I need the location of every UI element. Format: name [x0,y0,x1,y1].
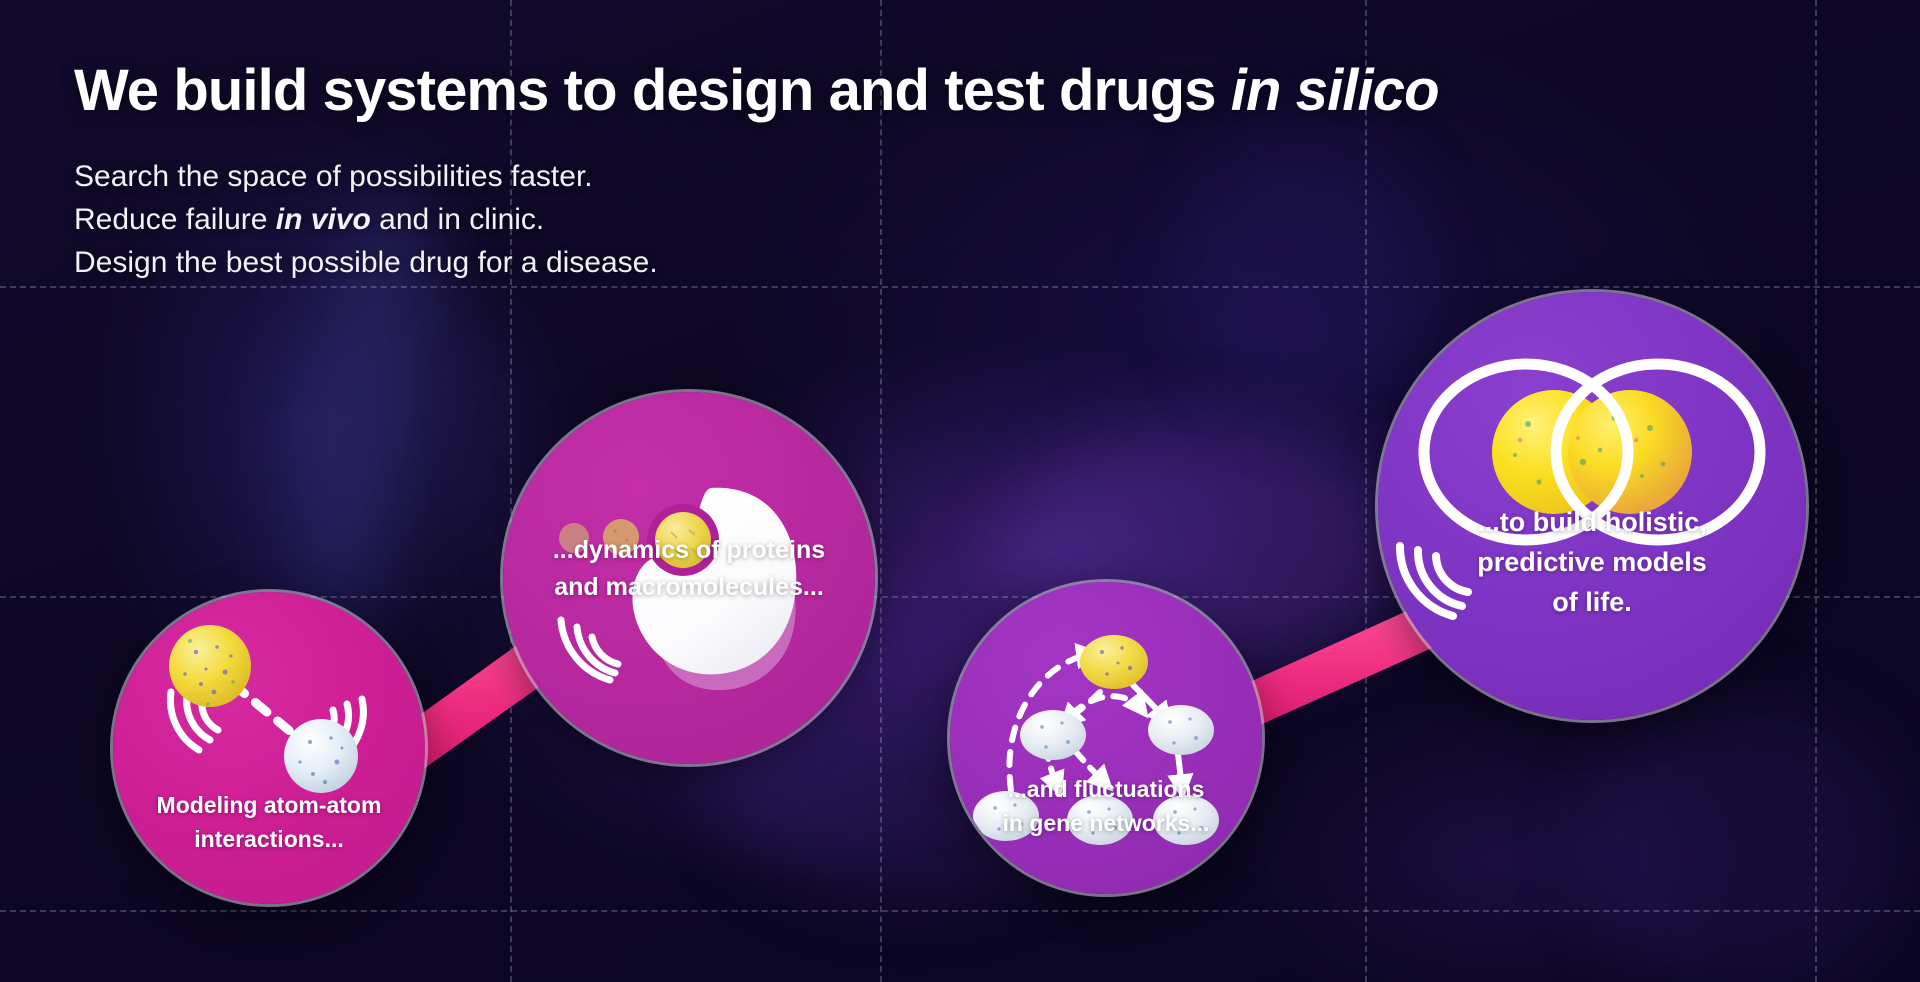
gene-node-grey-2 [1148,705,1214,755]
node-cells-caption-line-1: ...to build holistic, [1420,502,1764,542]
node-genes[interactable]: ...and fluctuations in gene networks... [950,582,1262,894]
slide-canvas: We build systems to design and test drug… [0,0,1920,982]
two-atoms-dashed-bond-icon [113,592,425,904]
grid-line-horizontal [0,286,1920,288]
atom-white [284,719,358,793]
node-protein[interactable]: ...dynamics of proteins and macromolecul… [503,392,875,764]
node-atoms-caption-line-2: interactions... [143,822,395,856]
subtitle-line-2a: Reduce failure [74,203,276,236]
subtitle-line-2: Reduce failure in vivo and in clinic. [74,198,658,241]
atom-yellow [169,625,251,707]
subtitle-line-3: Design the best possible drug for a dise… [74,241,658,284]
nuclei [1492,390,1692,514]
gene-node-grey-1 [1020,710,1086,760]
node-cells-caption: ...to build holistic, predictive models … [1378,502,1806,622]
node-atoms-caption: Modeling atom-atom interactions... [113,788,425,856]
node-genes-caption-line-2: in gene networks... [976,806,1236,840]
nebula-streak [1580,700,1910,982]
grid-line-vertical [880,0,882,982]
node-cells-caption-line-2: predictive models [1420,542,1764,582]
subtitle-line-1: Search the space of possibilities faster… [74,155,658,198]
page-title-main: We build systems to design and test drug… [74,58,1231,123]
node-cells[interactable]: ...to build holistic, predictive models … [1378,292,1806,720]
gene-node-yellow [1080,635,1148,689]
subtitle-line-2-emphasis: in vivo [276,203,371,236]
node-protein-caption-line-2: and macromolecules... [537,569,841,606]
vibration-arcs [561,620,618,680]
gene-network-icon [950,582,1262,894]
node-genes-caption-line-1: ...and fluctuations [976,772,1236,806]
node-cells-caption-line-3: of life. [1420,582,1764,622]
page-title-italic: in silico [1231,58,1439,123]
bond-dashes [233,684,297,737]
subtitle-block: Search the space of possibilities faster… [74,155,658,284]
page-title: We build systems to design and test drug… [74,57,1439,124]
subtitle-line-2b: and in clinic. [371,203,544,236]
node-genes-caption: ...and fluctuations in gene networks... [950,772,1262,840]
node-atoms[interactable]: Modeling atom-atom interactions... [113,592,425,904]
grid-line-horizontal [0,910,1920,912]
node-protein-caption: ...dynamics of proteins and macromolecul… [503,532,875,606]
node-protein-caption-line-1: ...dynamics of proteins [537,532,841,569]
grid-line-vertical [1815,0,1817,982]
node-atoms-caption-line-1: Modeling atom-atom [143,788,395,822]
grid-line-vertical [1365,0,1367,982]
